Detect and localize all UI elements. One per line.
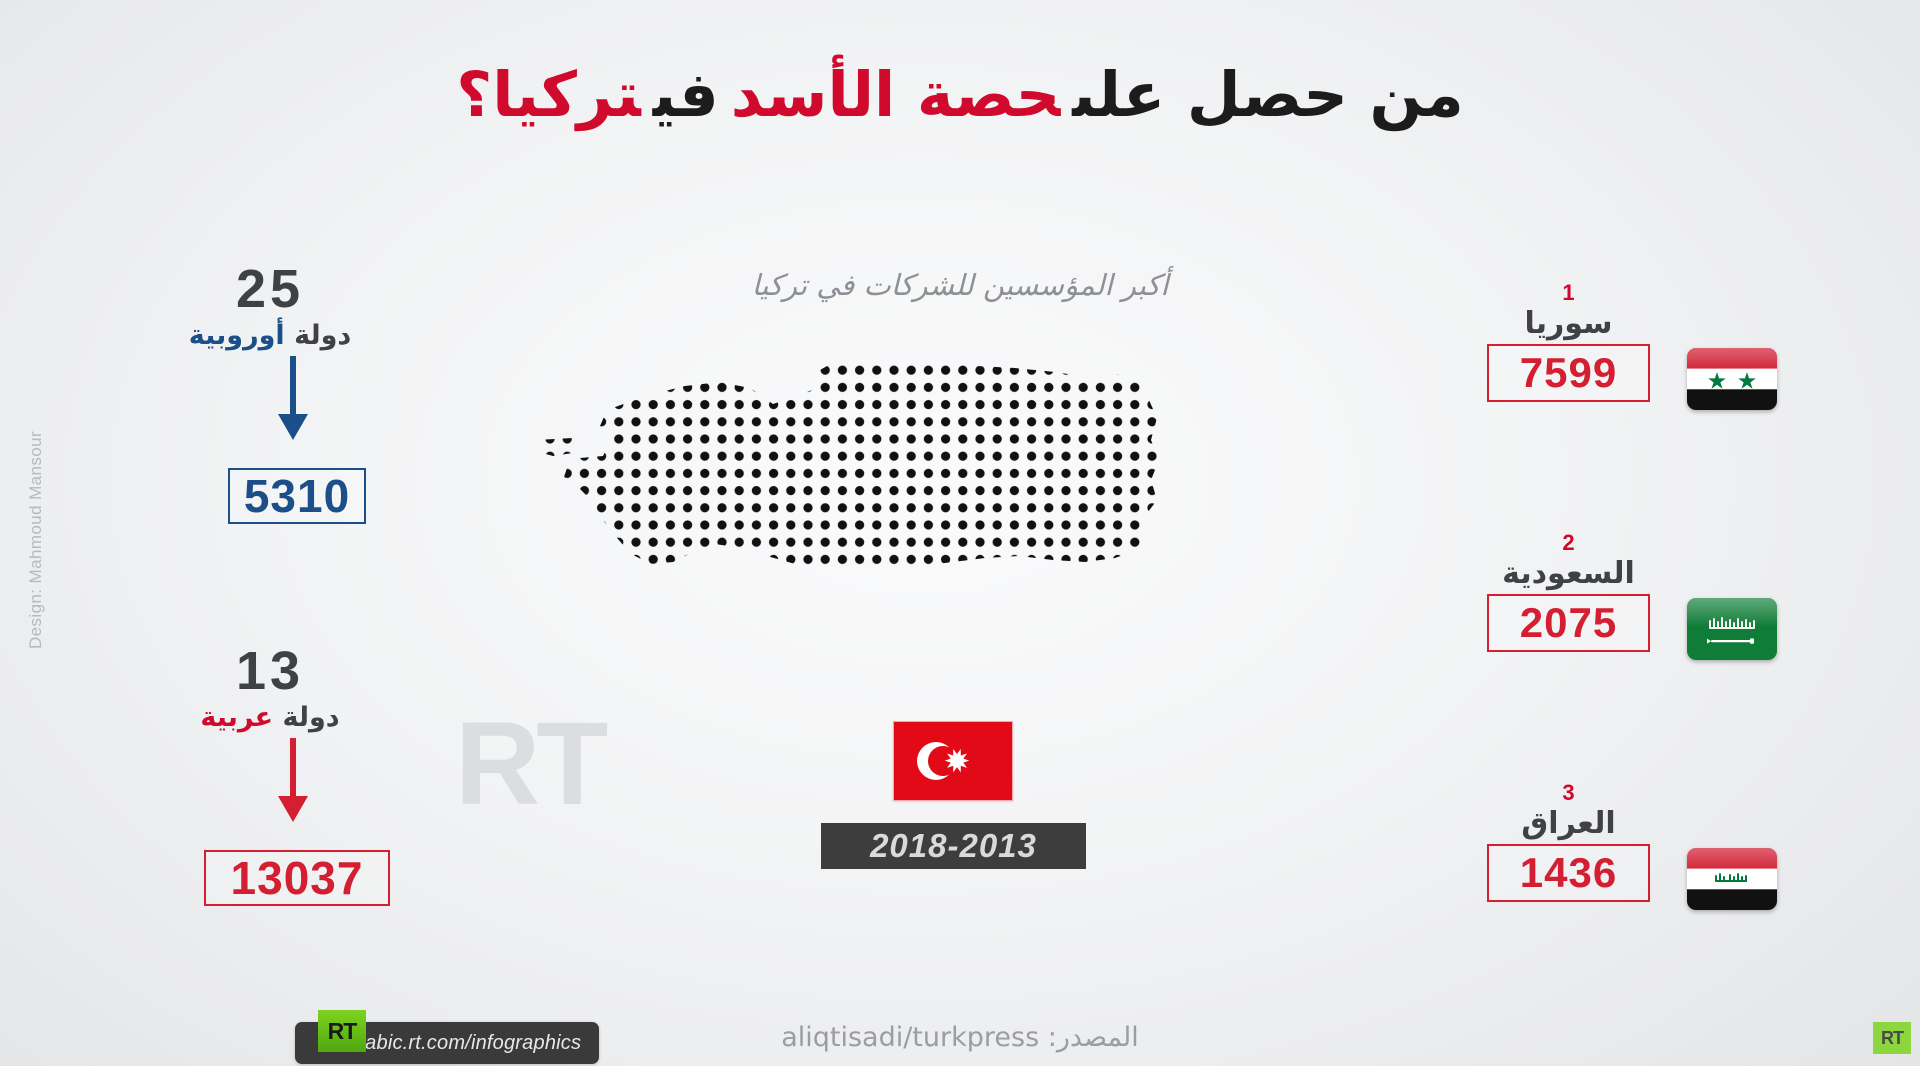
title-part-3: في [653,58,719,131]
iraq-rank: 3 [1487,782,1650,804]
arab-arrow-icon [272,738,314,824]
title-part-2: حصة الأسد [731,58,1061,131]
europe-value-box: 5310 [228,468,366,524]
arab-label-plain: دولة [283,702,340,733]
europe-arrow-icon [272,356,314,442]
country-row-syria: 1 سوريا 7599 [1487,282,1650,406]
saudi-arabia-name: السعودية [1487,556,1650,591]
title-part-4: تركيا؟ [456,58,641,131]
turkey-map-svg [545,348,1395,668]
iraq-name: العراق [1487,806,1650,841]
country-row-saudi-arabia: 2 السعودية 2075 [1487,532,1650,656]
iraq-flag-svg [1687,848,1777,910]
stat-block-europe: 25 دولة أوروبية [140,262,400,351]
designer-credit: Design: Mahmoud Mansour [26,410,46,670]
iraq-value-box: 1436 [1487,844,1650,902]
syria-value-box: 7599 [1487,344,1650,402]
iraq-flag [1687,848,1777,910]
turkey-dot-map [545,348,1395,668]
date-range-badge: 2018-2013 [821,823,1086,869]
syria-rank: 1 [1487,282,1650,304]
europe-label: دولة أوروبية [140,320,400,351]
stat-block-arab: 13 دولة عربية [140,644,400,733]
europe-country-count: 25 [140,262,400,316]
arab-label-accent: عربية [200,702,273,733]
rt-corner-logo: RT [1873,1022,1911,1054]
europe-label-accent: أوروبية [189,320,285,351]
country-row-iraq: 3 العراق 1436 [1487,782,1650,906]
saudi-arabia-flag-svg [1687,598,1777,660]
syria-flag [1687,348,1777,410]
syria-flag-svg [1687,348,1777,410]
arab-label: دولة عربية [140,702,400,733]
rt-watermark: RT [455,705,604,823]
page-title: من حصل علىحصة الأسدفيتركيا؟ [0,62,1920,127]
syria-name: سوريا [1487,306,1650,341]
saudi-arabia-value-box: 2075 [1487,594,1650,652]
saudi-arabia-rank: 2 [1487,532,1650,554]
europe-label-plain: دولة [294,320,351,351]
saudi-arabia-flag [1687,598,1777,660]
source-credit: المصدر: aliqtisadi/turkpress [0,1022,1920,1053]
turkey-flag-svg [894,722,1012,800]
arab-country-count: 13 [140,644,400,698]
title-part-1: من حصل على [1072,58,1463,131]
turkey-flag [893,721,1013,801]
arab-value-box: 13037 [204,850,390,906]
